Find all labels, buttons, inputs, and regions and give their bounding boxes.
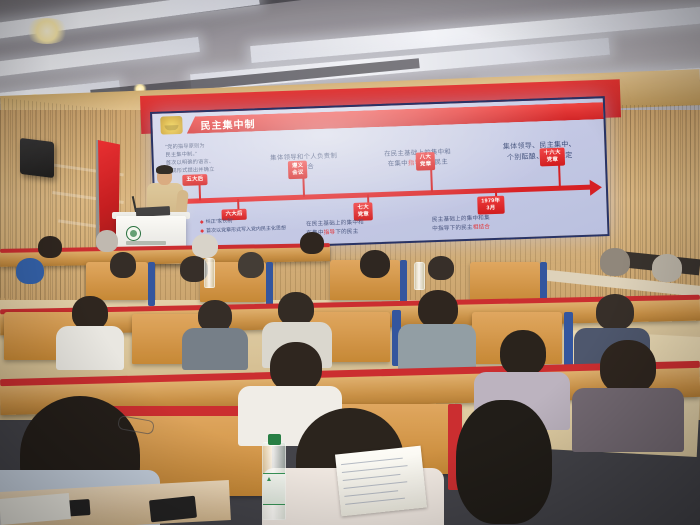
timeline-node-6: 1979年 3月 [477, 196, 504, 214]
water-bottle-icon [414, 262, 425, 290]
open-notebook [335, 446, 427, 517]
attendee-head [38, 236, 62, 258]
attendee-shoulders [398, 324, 476, 372]
attendee-shoulders [182, 328, 248, 370]
attendee-head [500, 330, 546, 376]
attendee-head [238, 252, 264, 278]
attendee-head [418, 290, 458, 328]
attendee-head [596, 294, 634, 330]
timeline-node-7: 十六大 党章 [540, 148, 566, 166]
party-emblem-icon [160, 116, 183, 135]
timeline-axis [171, 185, 591, 205]
water-bottle-icon [262, 442, 286, 520]
attendee-head [652, 254, 682, 282]
seat-frame [564, 312, 573, 368]
attendee-shoulders [56, 326, 124, 370]
attendee-head [110, 252, 136, 278]
timeline-stem [430, 166, 433, 192]
slide-foot-note-1: 在民主基础上的集中和 在集中指导下的民主 [306, 217, 419, 238]
foot-1-after: 下的民主 [335, 228, 358, 235]
timeline-node-5: 八大 党章 [416, 152, 436, 170]
attendee-head [72, 296, 108, 330]
ceiling-light-panel [0, 37, 200, 82]
attendee-head [270, 342, 322, 392]
seat-frame [266, 262, 273, 308]
attendee-head [278, 292, 314, 326]
loudspeaker-icon [20, 138, 54, 178]
attendee-shoulders [572, 388, 684, 452]
presenter-hair [156, 165, 173, 174]
downlight-icon [24, 18, 70, 44]
attendee-head [600, 248, 630, 276]
podium-nameplate [126, 241, 166, 245]
slide-bullet-list: ◆纠正“家长制” ◆首次以党章形式写入党内民主化思想 [200, 215, 297, 235]
timeline-stem [558, 162, 561, 188]
projection-screen: 民主集中制 “党的指导原则为 民主集中制。” 首次以明确的语言、 法规形式提出并… [150, 96, 610, 252]
attendee-head [96, 230, 118, 252]
water-bottle-icon [204, 258, 215, 288]
attendee-head [428, 256, 454, 280]
foot-2-highlight: 相结合 [473, 224, 491, 231]
foot-1-highlight: 指导 [324, 229, 336, 235]
slide-foot-note-2: 民主基础上的集中和集 中指导下的民主相结合 [432, 212, 553, 233]
attendee-head [16, 258, 44, 284]
attendee-head [360, 250, 390, 278]
presentation-slide: 民主集中制 “党的指导原则为 民主集中制。” 首次以明确的语言、 法规形式提出并… [152, 98, 607, 250]
attendee-head [600, 340, 656, 394]
seat-frame [400, 260, 407, 306]
seat-frame [148, 262, 155, 306]
attendee-head [300, 232, 324, 254]
foreground-attendee-head-3 [456, 400, 552, 524]
lecture-hall-photo: 民主集中制 “党的指导原则为 民主集中制。” 首次以明确的语言、 法规形式提出并… [0, 0, 700, 525]
attendee-head [192, 234, 218, 258]
institution-emblem-icon [126, 226, 141, 241]
timeline-node-3: 遵义 会议 [288, 161, 308, 179]
slide-title: 民主集中制 [200, 115, 255, 132]
